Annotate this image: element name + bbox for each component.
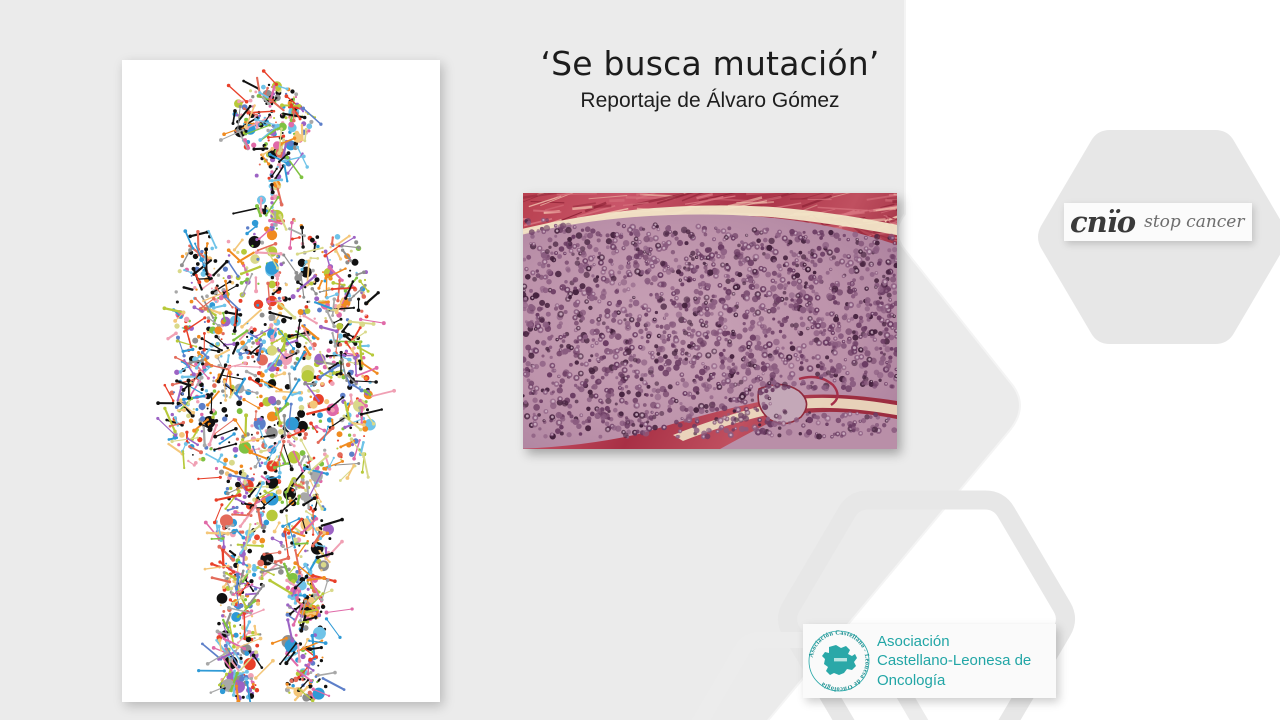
page-subtitle: Reportaje de Álvaro Gómez — [420, 87, 1000, 114]
title-block: ‘Se busca mutación’ Reportaje de Álvaro … — [420, 44, 1000, 114]
asociacion-logo: Asociación Castellano - Leonesa de Oncol… — [803, 624, 1056, 698]
cnio-wordmark: cnïo — [1070, 208, 1135, 237]
asociacion-line-3: Oncología — [877, 671, 1031, 691]
asociacion-line-2: Castellano-Leonesa de — [877, 651, 1031, 671]
human-body-mutation-infographic — [122, 60, 440, 702]
cnio-wordmark-text: cnïo — [1070, 205, 1135, 239]
cnio-tagline: stop cancer — [1144, 212, 1244, 232]
body-infographic-panel — [122, 60, 440, 702]
histology-micrograph — [523, 193, 897, 449]
cnio-logo: cnïo stop cancer — [1064, 203, 1252, 241]
slide-canvas: ‘Se busca mutación’ Reportaje de Álvaro … — [0, 0, 1280, 720]
asociacion-line-1: Asociación — [877, 632, 1031, 652]
asociacion-emblem-icon: Asociación Castellano - Leonesa de Oncol… — [803, 625, 875, 697]
asociacion-logo-text: Asociación Castellano-Leonesa de Oncolog… — [877, 632, 1031, 691]
page-title: ‘Se busca mutación’ — [420, 44, 1000, 84]
